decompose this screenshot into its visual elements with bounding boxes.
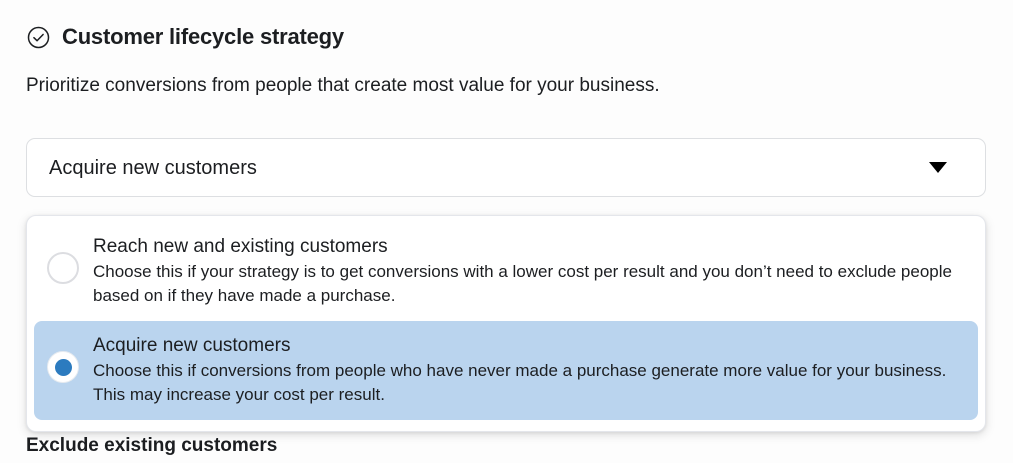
dropdown-option-reach-new-and-existing-customers[interactable]: Reach new and existing customers Choose … [34, 222, 978, 321]
option-title: Acquire new customers [93, 333, 964, 358]
page-title: Customer lifecycle strategy [62, 24, 344, 50]
option-description: Choose this if conversions from people w… [93, 359, 964, 407]
customer-lifecycle-select[interactable]: Acquire new customers [26, 138, 986, 197]
check-circle-icon [26, 25, 51, 50]
radio-button-unselected[interactable] [47, 252, 79, 284]
dropdown-option-acquire-new-customers[interactable]: Acquire new customers Choose this if con… [34, 321, 978, 420]
select-selected-value: Acquire new customers [49, 156, 929, 180]
option-text-block: Reach new and existing customers Choose … [93, 234, 964, 308]
customer-lifecycle-dropdown-panel[interactable]: Reach new and existing customers Choose … [26, 215, 986, 432]
radio-button-selected[interactable] [47, 351, 79, 383]
option-text-block: Acquire new customers Choose this if con… [93, 333, 964, 407]
chevron-down-icon[interactable] [929, 162, 947, 173]
section-header: Customer lifecycle strategy [26, 24, 344, 50]
section-subtitle: Prioritize conversions from people that … [26, 73, 660, 99]
option-title: Reach new and existing customers [93, 234, 964, 259]
option-description: Choose this if your strategy is to get c… [93, 260, 964, 308]
exclude-existing-customers-heading: Exclude existing customers [26, 433, 277, 459]
